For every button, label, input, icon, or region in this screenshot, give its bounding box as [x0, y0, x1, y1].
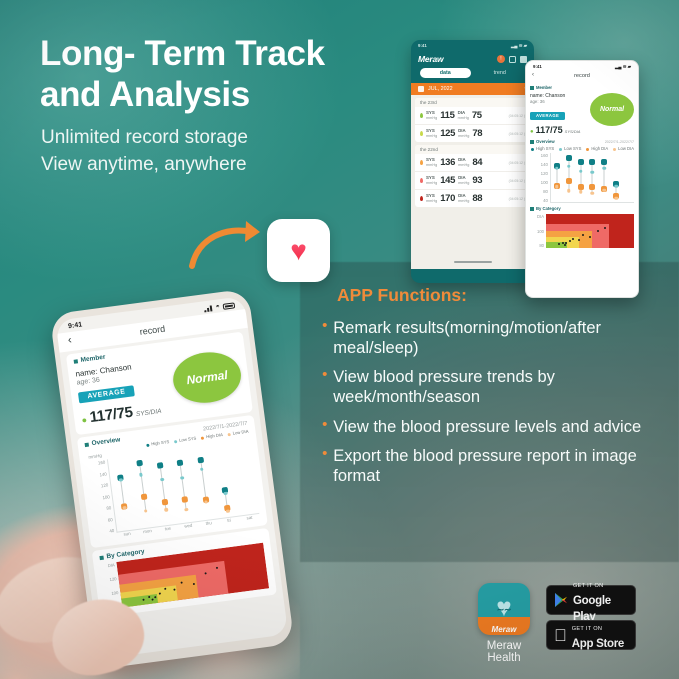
vignette — [0, 0, 679, 679]
promo-banner: Long- Term Track and Analysis Unlimited … — [0, 0, 679, 679]
